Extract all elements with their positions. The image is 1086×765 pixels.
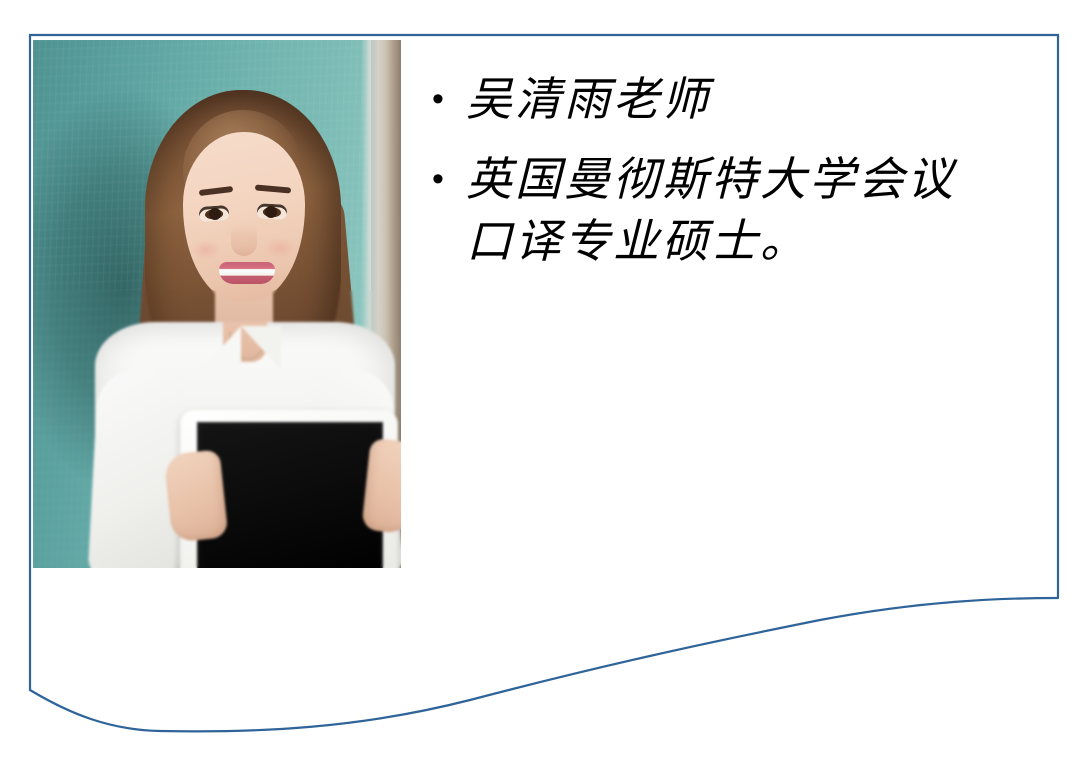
cheek-left: [191, 240, 221, 260]
pupil-left: [209, 208, 221, 220]
photo-depth-of-field: [33, 290, 401, 568]
bullet-list: • 吴清雨老师 • 英国曼彻斯特大学会议口译专业硕士。: [428, 68, 1004, 290]
list-item: • 吴清雨老师: [428, 68, 1004, 130]
slide-canvas: • 吴清雨老师 • 英国曼彻斯特大学会议口译专业硕士。: [0, 0, 1086, 765]
cheek-right: [265, 238, 295, 258]
list-item: • 英国曼彻斯特大学会议口译专业硕士。: [428, 148, 1004, 272]
bullet-text-speaker-name: 吴清雨老师: [466, 68, 1004, 130]
smiling-mouth: [219, 262, 275, 284]
nose: [231, 222, 257, 256]
speaker-photo: [33, 40, 401, 568]
bullet-marker-icon: •: [428, 148, 466, 210]
pupil-right: [265, 206, 277, 218]
bullet-marker-icon: •: [428, 68, 466, 130]
bullet-text-speaker-credentials: 英国曼彻斯特大学会议口译专业硕士。: [466, 148, 1004, 272]
